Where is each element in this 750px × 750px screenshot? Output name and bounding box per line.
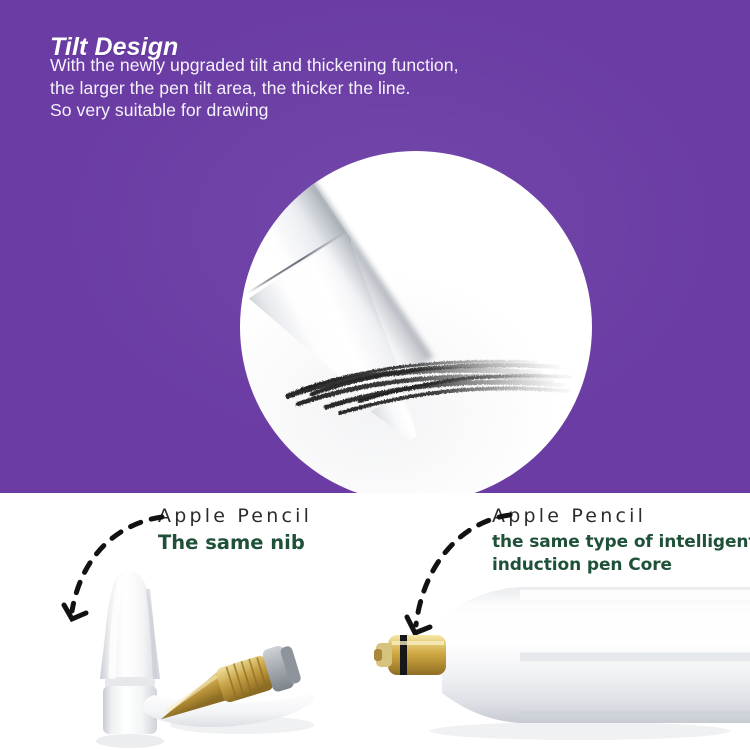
pen-body-gold-connector-art [370,573,750,750]
features-panel: Apple Pencil The same nib [0,493,750,750]
hero-panel: Tilt Design With the newly upgraded tilt… [0,0,750,493]
feature-claim-nib: The same nib [158,531,312,554]
subcopy-line-3: So very suitable for drawing [50,99,670,122]
pencil-nib-and-gold-core-art [82,565,332,750]
subcopy-line-2: the larger the pen tilt area, the thicke… [50,77,670,100]
graphite-strokes [240,151,592,493]
pencil-tip-drawing-photo [240,151,592,493]
feature-claim-nib-line-1: The same nib [158,531,312,554]
feature-callout-core: Apple Pencil the same type of intelligen… [492,504,750,577]
subcopy-line-1: With the newly upgraded tilt and thicken… [50,54,670,77]
gold-connector [374,635,446,675]
pen-body [442,587,750,723]
feature-claim-core-line-1: the same type of intelligent [492,531,750,554]
brand-label-nib: Apple Pencil [158,504,312,528]
product-feature-image: Tilt Design With the newly upgraded tilt… [0,0,750,750]
hero-subcopy: With the newly upgraded tilt and thicken… [50,54,670,122]
brand-label-core: Apple Pencil [492,504,750,528]
feature-claim-core: the same type of intelligent induction p… [492,531,750,577]
feature-callout-nib: Apple Pencil The same nib [158,504,312,554]
